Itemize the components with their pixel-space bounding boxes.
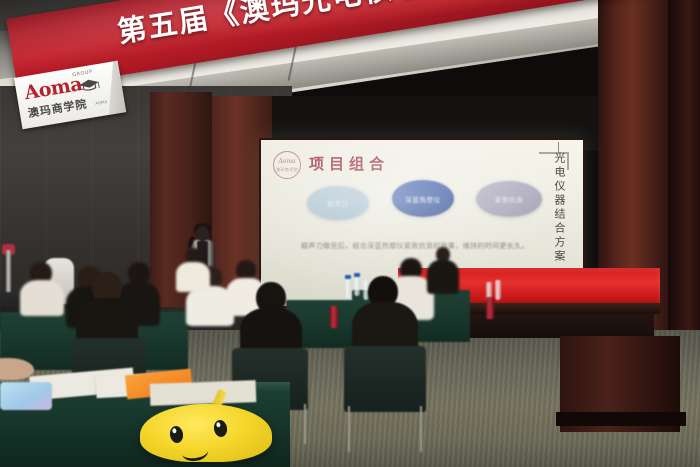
water-bottle <box>354 276 360 296</box>
logo-group-text: GROUP <box>72 69 93 78</box>
bottle-cap <box>354 273 360 277</box>
stamp-brand-text: Aoma <box>274 158 300 165</box>
slide-ellipse-2-label: 深蓝热塑仪 <box>405 194 441 204</box>
slide-side-title: 光电仪器结合方案 <box>546 148 572 268</box>
seminar-room-photo: 第五届《澳玛光电核心技术学习班》 Aoma GROUP 澳玛商学院 AOMA A… <box>0 0 700 467</box>
slide-body-text: 超声刀做完后，结合深蓝热塑仪紧致抗衰的效果，维持的时间更长久。 <box>301 240 551 253</box>
bottle-cap <box>345 275 351 279</box>
aoma-stamp-icon: Aoma 澳玛商学院 <box>273 151 301 179</box>
logo-chinese-sub: AOMA <box>95 99 108 106</box>
presenter-face <box>196 226 209 241</box>
red-thermos <box>330 306 338 328</box>
chair-leg <box>348 406 350 452</box>
red-thermos <box>486 297 494 319</box>
tissue-pack <box>0 382 52 410</box>
slide-ellipse-3-label: 紧致抗衰 <box>495 194 523 204</box>
slide-ellipse-3: 紧致抗衰 <box>476 181 542 217</box>
slide-ellipse-2: 深蓝热塑仪 <box>392 180 454 217</box>
chair-leg <box>420 406 422 452</box>
water-bottle <box>345 278 351 298</box>
slide-ellipse-1-label: 超声刀 <box>327 198 348 208</box>
graduation-cap-icon <box>77 77 101 93</box>
water-bottle <box>495 280 501 300</box>
stamp-sub-text: 澳玛商学院 <box>274 167 300 173</box>
paper-sheet <box>150 380 257 406</box>
right-podium-edge <box>556 412 686 426</box>
smiley-neck-pillow <box>140 404 272 462</box>
chair-leg <box>304 404 306 444</box>
slide-title: 项目组合 <box>309 153 389 174</box>
slide-ellipse-1: 超声刀 <box>307 186 369 220</box>
chair-mid-2 <box>344 346 426 412</box>
